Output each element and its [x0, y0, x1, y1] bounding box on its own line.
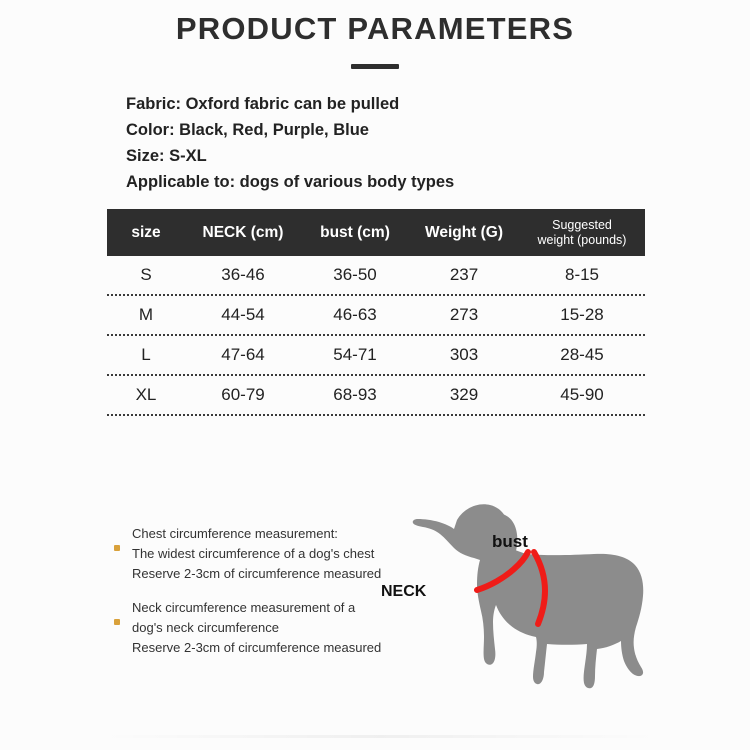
cell-size: M — [107, 305, 185, 325]
title-divider — [351, 64, 399, 69]
spec-line-applicable: Applicable to: dogs of various body type… — [126, 169, 750, 195]
table-row: S 36-46 36-50 237 8-15 — [107, 256, 645, 296]
column-header-size: size — [107, 224, 185, 242]
measurement-notes: Chest circumference measurement: The wid… — [112, 524, 402, 672]
cell-neck: 44-54 — [185, 305, 301, 325]
cell-size: L — [107, 345, 185, 365]
cell-bust: 36-50 — [301, 265, 409, 285]
cell-weight: 273 — [409, 305, 519, 325]
note-block-neck: Neck circumference measurement of a dog'… — [112, 598, 402, 658]
bottom-shadow — [100, 735, 660, 738]
column-header-neck: NECK (cm) — [185, 224, 301, 242]
bullet-icon — [114, 545, 120, 551]
column-header-suggested-line2: weight (pounds) — [538, 233, 627, 247]
cell-weight: 303 — [409, 345, 519, 365]
column-header-weight: Weight (G) — [409, 224, 519, 242]
column-header-suggested-line1: Suggested — [552, 218, 612, 232]
table-row: XL 60-79 68-93 329 45-90 — [107, 376, 645, 416]
label-bust: bust — [492, 532, 528, 552]
spec-list: Fabric: Oxford fabric can be pulled Colo… — [126, 91, 750, 195]
column-header-bust: bust (cm) — [301, 224, 409, 242]
cell-size: XL — [107, 385, 185, 405]
cell-neck: 36-46 — [185, 265, 301, 285]
cell-bust: 68-93 — [301, 385, 409, 405]
note-neck-line1: Neck circumference measurement of a — [132, 598, 402, 618]
bullet-icon — [114, 619, 120, 625]
note-chest-line2: The widest circumference of a dog's ches… — [132, 544, 402, 564]
cell-weight: 237 — [409, 265, 519, 285]
spec-line-size: Size: S-XL — [126, 143, 750, 169]
cell-suggested: 45-90 — [519, 385, 645, 405]
cell-bust: 54-71 — [301, 345, 409, 365]
cell-weight: 329 — [409, 385, 519, 405]
dog-illustration — [398, 498, 658, 694]
page-title: PRODUCT PARAMETERS — [0, 12, 750, 46]
cell-bust: 46-63 — [301, 305, 409, 325]
column-header-suggested-weight: Suggested weight (pounds) — [519, 218, 645, 247]
note-chest-line1: Chest circumference measurement: — [132, 524, 402, 544]
cell-size: S — [107, 265, 185, 285]
spec-line-color: Color: Black, Red, Purple, Blue — [126, 117, 750, 143]
table-row: M 44-54 46-63 273 15-28 — [107, 296, 645, 336]
label-neck: NECK — [381, 583, 426, 601]
spec-line-fabric: Fabric: Oxford fabric can be pulled — [126, 91, 750, 117]
cell-suggested: 8-15 — [519, 265, 645, 285]
cell-neck: 47-64 — [185, 345, 301, 365]
note-chest-line3: Reserve 2-3cm of circumference measured — [132, 564, 402, 584]
note-neck-line2: dog's neck circumference — [132, 618, 402, 638]
cell-neck: 60-79 — [185, 385, 301, 405]
note-neck-line3: Reserve 2-3cm of circumference measured — [132, 638, 402, 658]
table-row: L 47-64 54-71 303 28-45 — [107, 336, 645, 376]
title-block: PRODUCT PARAMETERS — [0, 0, 750, 69]
size-table: size NECK (cm) bust (cm) Weight (G) Sugg… — [107, 209, 645, 416]
note-block-chest: Chest circumference measurement: The wid… — [112, 524, 402, 584]
table-header-row: size NECK (cm) bust (cm) Weight (G) Sugg… — [107, 209, 645, 256]
cell-suggested: 28-45 — [519, 345, 645, 365]
cell-suggested: 15-28 — [519, 305, 645, 325]
